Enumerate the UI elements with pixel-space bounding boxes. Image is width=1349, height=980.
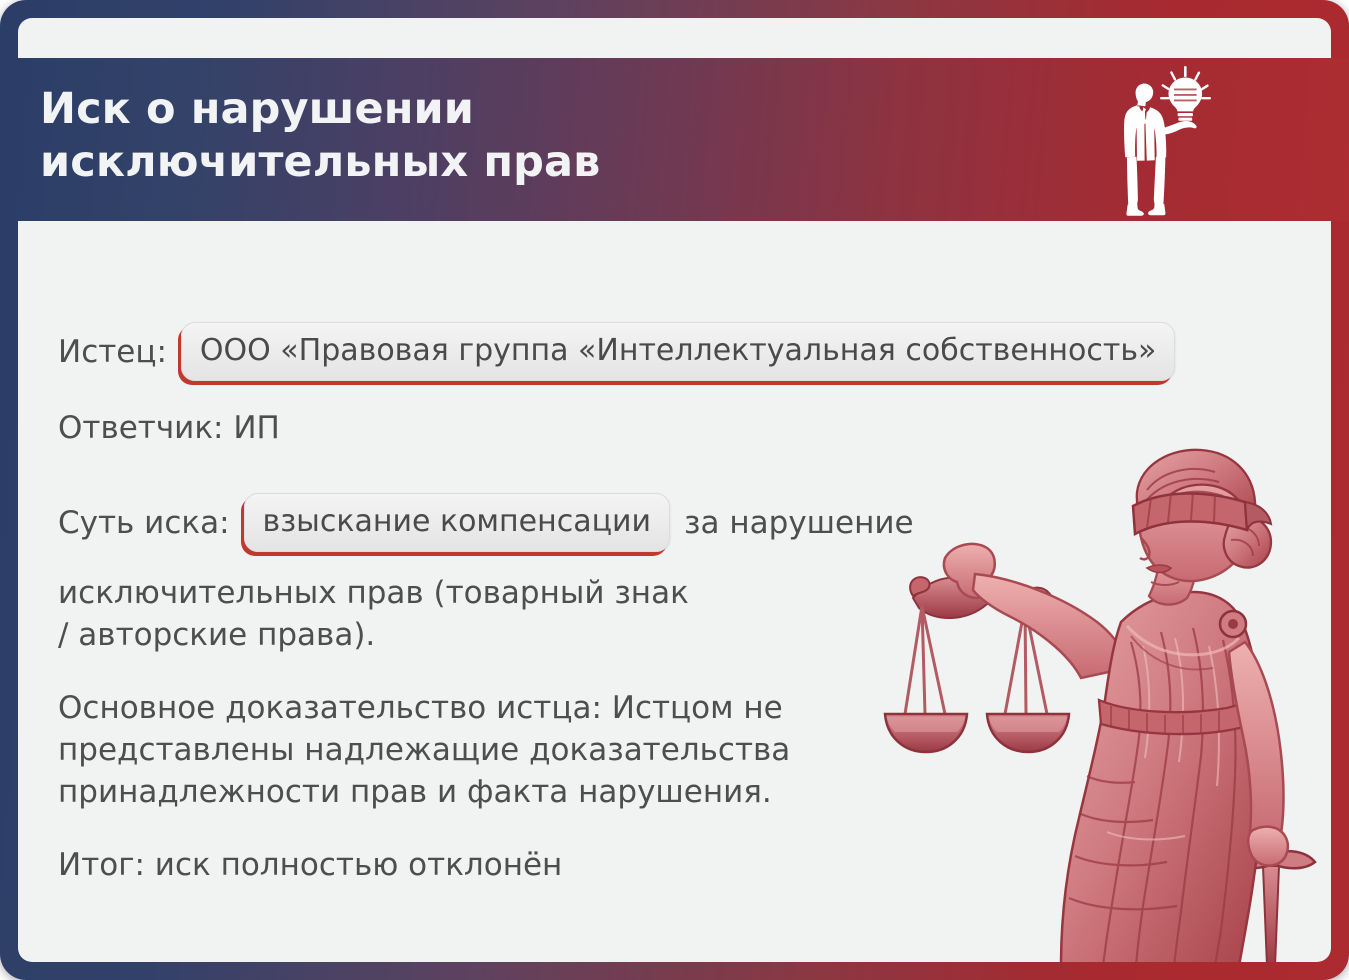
card-top-strip: [18, 18, 1331, 60]
essence-value-chip[interactable]: взыскание компенсации: [244, 493, 671, 552]
plaintiff-label: Истец:: [58, 334, 167, 370]
essence-tail-text: за нарушение: [684, 505, 914, 541]
card-body: Истец: ООО «Правовая группа «Интеллектуа…: [18, 221, 1331, 962]
result-text: Итог: иск полностью отклонён: [58, 847, 562, 883]
essence-continuation-text: исключительных прав (товарный знак / авт…: [58, 572, 838, 656]
evidence-text: Основное доказательство истца: Истцом не…: [58, 687, 868, 813]
info-card: Иск о нарушении исключительных прав: [0, 0, 1349, 980]
plaintiff-row: Истец: ООО «Правовая группа «Интеллектуа…: [58, 322, 1175, 381]
page-title: Иск о нарушении исключительных прав: [40, 83, 940, 190]
essence-row: Суть иска: взыскание компенсации за нару…: [58, 493, 1058, 656]
essence-label: Суть иска:: [58, 505, 230, 541]
defendant-row: Ответчик: ИП: [58, 410, 280, 446]
card-header: Иск о нарушении исключительных прав: [0, 58, 1349, 221]
plaintiff-value-chip[interactable]: ООО «Правовая группа «Интеллектуальная с…: [181, 322, 1175, 381]
person-with-idea-bulb-icon: [1101, 64, 1221, 219]
